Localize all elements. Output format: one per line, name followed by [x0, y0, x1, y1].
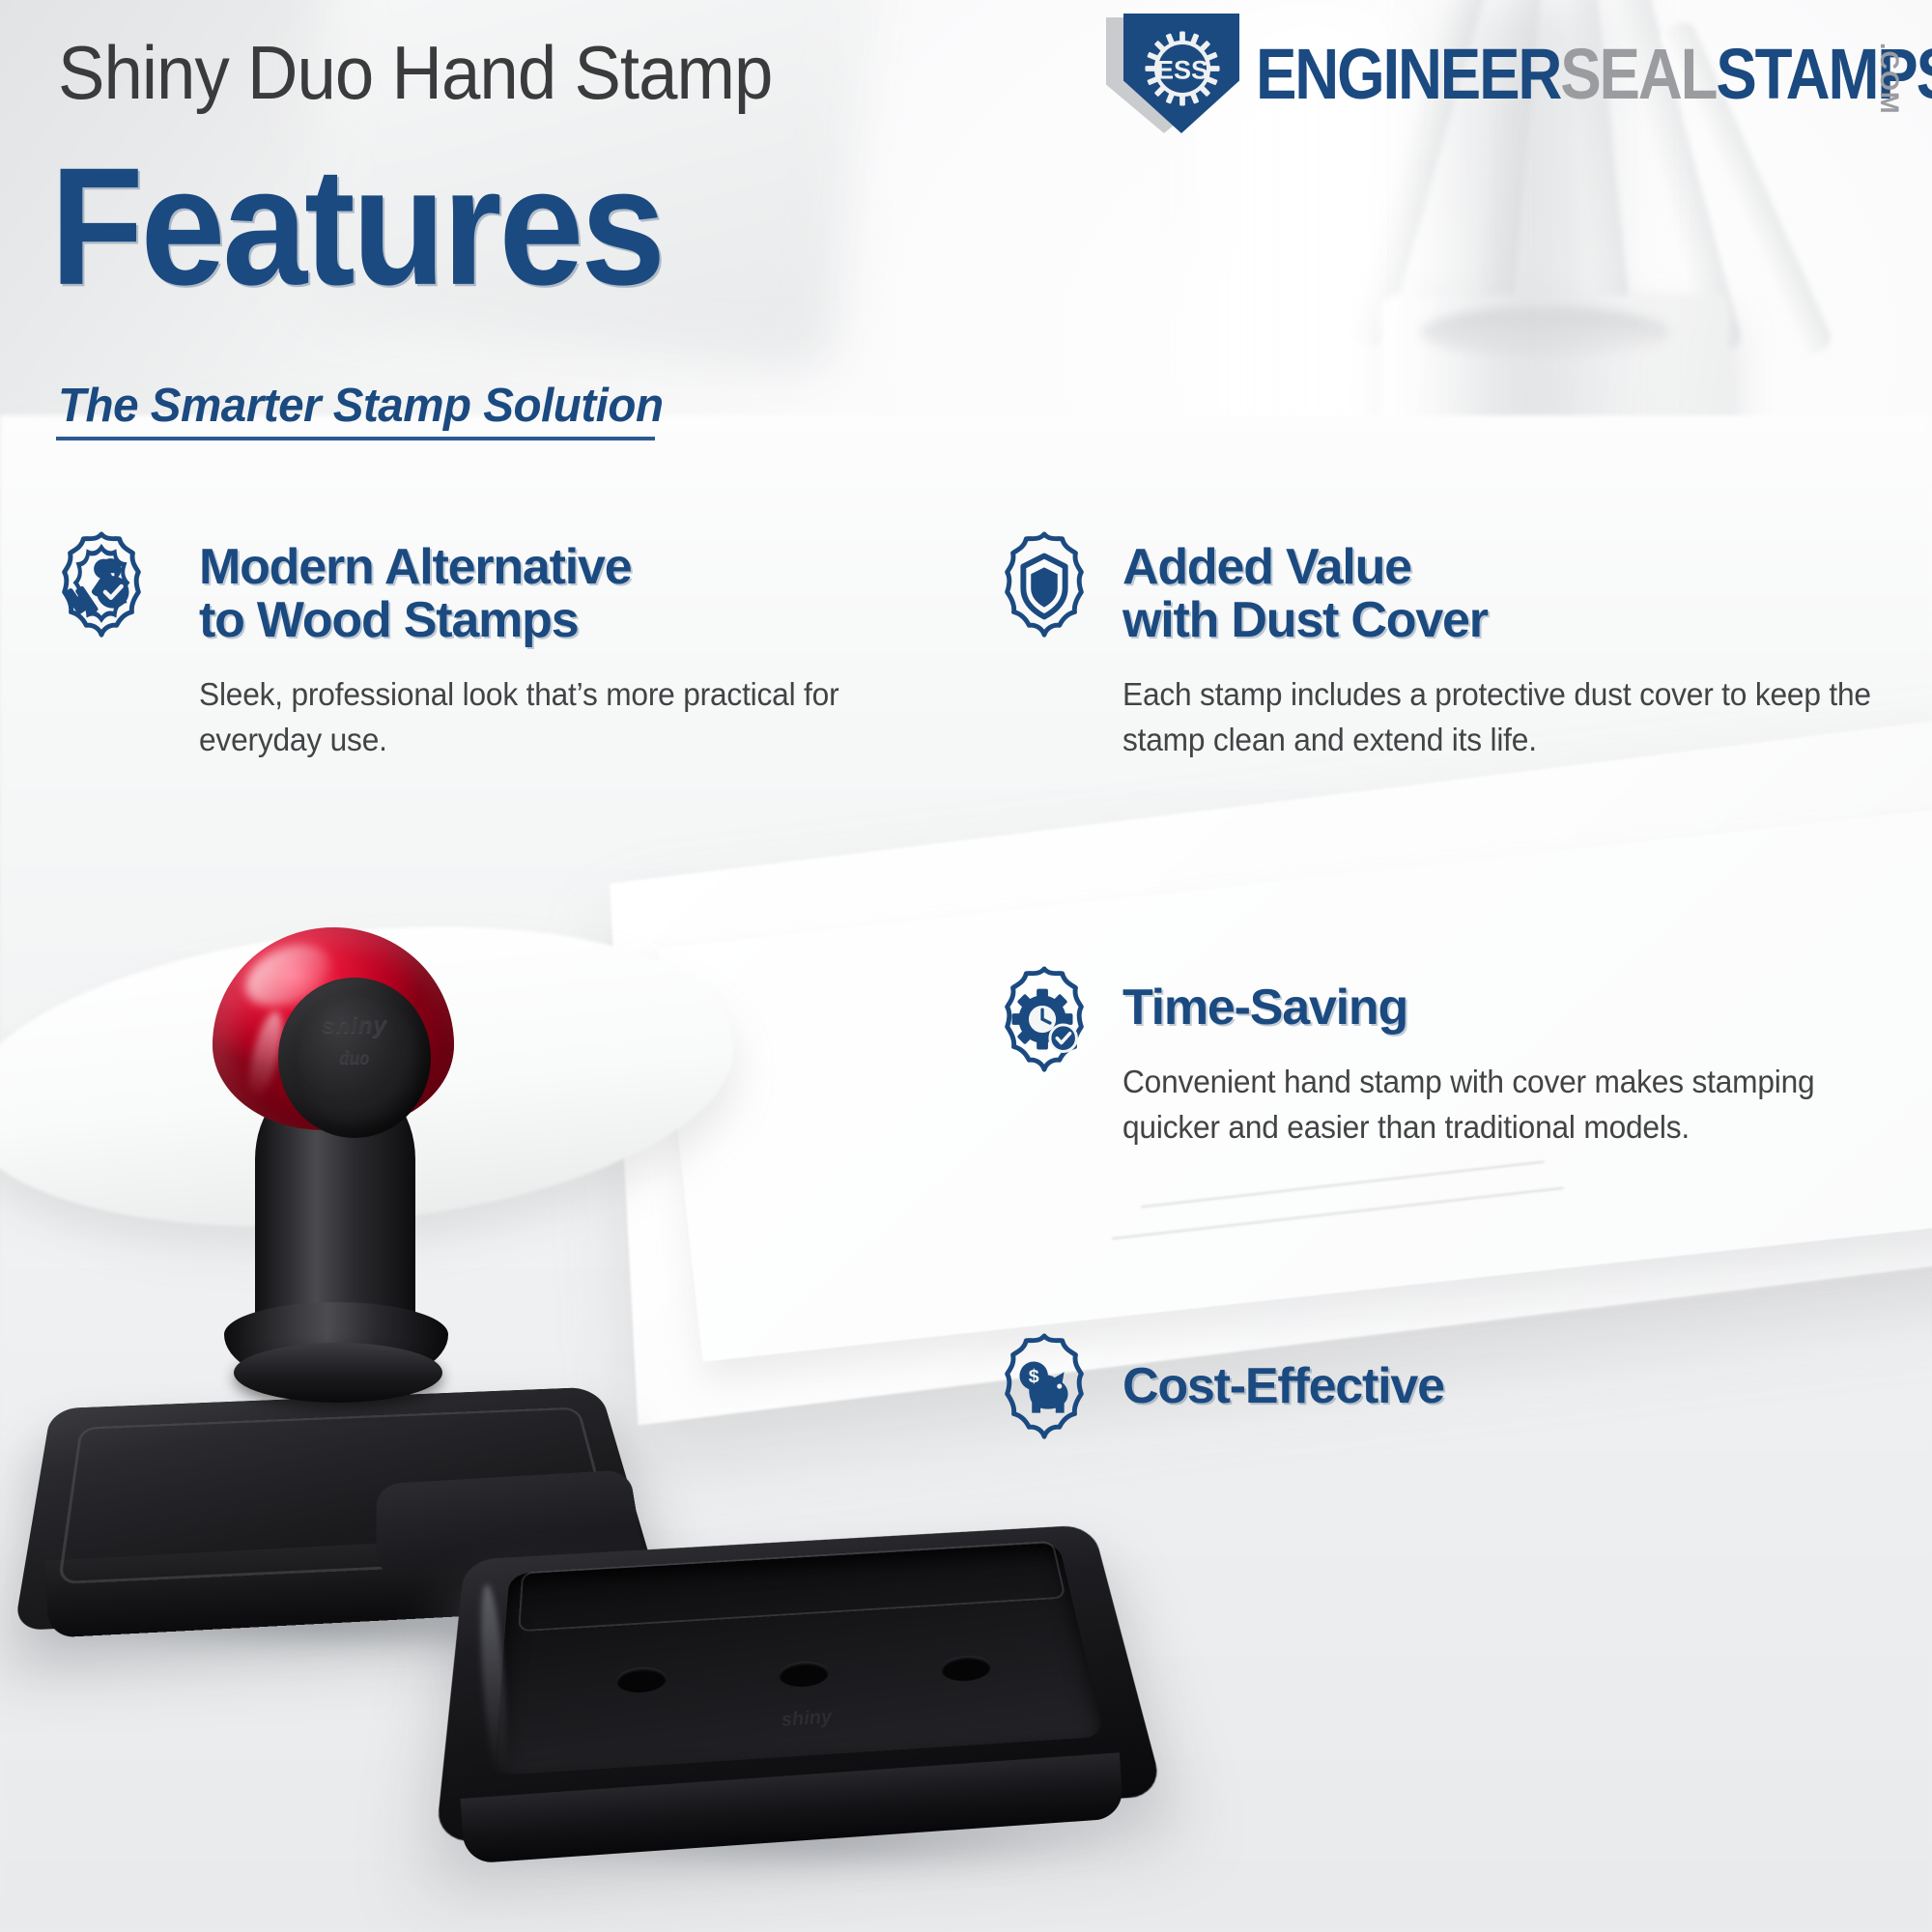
logo-word-seal: SEAL	[1560, 34, 1716, 114]
tagline-underline	[56, 437, 655, 440]
feature-heading: Cost-Effective	[1122, 1360, 1915, 1413]
logo-tld: .COM	[1874, 43, 1904, 115]
stamp-model-mark: duo	[278, 1047, 431, 1069]
feature-heading-line: Modern Alternative	[199, 541, 914, 594]
shield-icon: ESS	[1106, 14, 1241, 139]
feature-heading: Time-Saving	[1122, 981, 1915, 1035]
feature-heading-line: to Wood Stamps	[199, 594, 914, 647]
feature-heading: Modern Alternative to Wood Stamps	[199, 541, 914, 647]
stamp-brand-mark: shiny	[278, 1012, 431, 1039]
feature-text-group: Modern Alternative to Wood Stamps Sleek,…	[199, 541, 914, 763]
ess-badge-text: ESS	[1156, 56, 1208, 85]
piggy-bank-dollar-badge-icon: $	[987, 1331, 1101, 1445]
feature-heading-line: Cost-Effective	[1122, 1360, 1915, 1413]
feature-heading-line: Time-Saving	[1122, 981, 1915, 1035]
product-title: Shiny Duo Hand Stamp	[58, 29, 772, 117]
feature-heading: Added Value with Dust Cover	[1122, 541, 1915, 647]
feature-description: Sleek, professional look that’s more pra…	[199, 672, 885, 763]
feature-text-group: Cost-Effective	[1122, 1360, 1915, 1413]
shield-badge-icon	[987, 529, 1101, 643]
feature-heading-line: Added Value	[1122, 541, 1915, 594]
svg-text:$: $	[1029, 1366, 1039, 1387]
feature-description: Each stamp includes a protective dust co…	[1122, 672, 1883, 763]
feature-description: Convenient hand stamp with cover makes s…	[1122, 1060, 1883, 1151]
stamp-check-badge-icon	[44, 529, 158, 643]
feature-text-group: Time-Saving Convenient hand stamp with c…	[1122, 981, 1915, 1151]
page-headline: Features	[50, 143, 663, 310]
gear-icon: ESS	[1143, 29, 1222, 108]
product-dust-cover: shiny	[454, 1468, 1150, 1913]
stamp-handle-collar	[234, 1343, 442, 1403]
clock-gear-check-badge-icon	[987, 964, 1101, 1078]
feature-text-group: Added Value with Dust Cover Each stamp i…	[1122, 541, 1915, 763]
feature-heading-line: with Dust Cover	[1122, 594, 1915, 647]
ess-wordmark: ENGINEERSEALSTAMPS	[1256, 39, 1932, 110]
page-tagline: The Smarter Stamp Solution	[58, 379, 663, 433]
ess-brand-logo[interactable]: ESS ENGINEERSEALSTAMPS .COM	[1106, 14, 1918, 139]
logo-word-engineer: ENGINEER	[1256, 34, 1560, 114]
